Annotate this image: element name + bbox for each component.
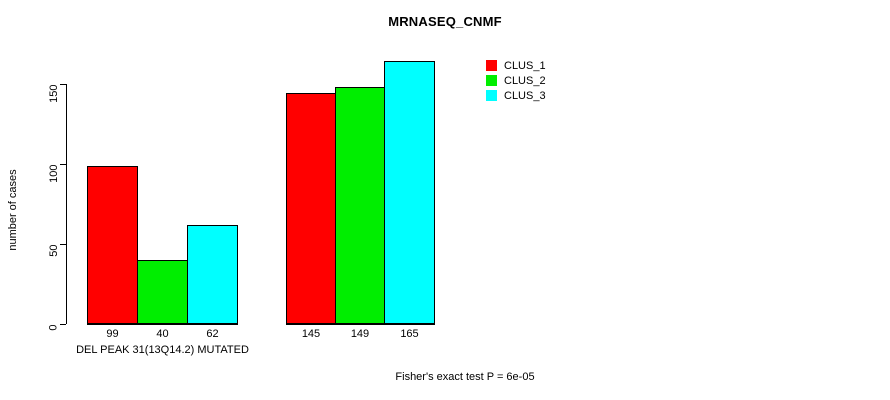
legend-swatch-clus1 <box>486 60 497 71</box>
y-tick-mark-100 <box>60 164 66 165</box>
statistical-test-note: Fisher's exact test P = 6e-05 <box>310 371 620 383</box>
bar-value-label-group1-clus2: 40 <box>137 328 188 340</box>
y-tick-label-50: 50 <box>54 245 55 257</box>
plot-area: 0 50 100 150 number of cases 99 40 62 DE… <box>0 0 890 400</box>
y-tick-mark-50 <box>60 244 66 245</box>
bar-group2-clus3[interactable] <box>384 61 435 324</box>
y-tick-label-100: 100 <box>54 165 55 183</box>
y-axis-title: number of cases <box>7 150 19 270</box>
bar-group1-clus1[interactable] <box>87 166 138 324</box>
y-tick-label-0-wrap: 0 <box>0 324 56 325</box>
legend-label-clus1: CLUS_1 <box>504 60 546 72</box>
legend-label-clus2: CLUS_2 <box>504 75 546 87</box>
group1-caption: DEL PEAK 31(13Q14.2) MUTATED <box>27 344 298 356</box>
bar-value-label-group1-clus1: 99 <box>87 328 138 340</box>
bar-chart-figure: MRNASEQ_CNMF 0 50 100 150 number of case… <box>0 0 890 400</box>
legend: CLUS_1 CLUS_2 CLUS_3 <box>486 58 546 103</box>
bar-value-label-group1-clus3: 62 <box>187 328 238 340</box>
bar-group2-clus2[interactable] <box>335 87 385 324</box>
bar-group1-clus2[interactable] <box>137 260 188 324</box>
y-tick-label-150-wrap: 150 <box>0 84 56 85</box>
y-tick-mark-0 <box>60 324 66 325</box>
y-tick-label-150: 150 <box>54 85 55 103</box>
bar-group1-clus3[interactable] <box>187 225 238 324</box>
legend-swatch-clus3 <box>486 90 497 101</box>
y-axis-line <box>66 84 67 324</box>
legend-label-clus3: CLUS_3 <box>504 90 546 102</box>
legend-item-clus1[interactable]: CLUS_1 <box>486 58 546 73</box>
group1-baseline <box>87 324 238 325</box>
legend-item-clus3[interactable]: CLUS_3 <box>486 88 546 103</box>
legend-item-clus2[interactable]: CLUS_2 <box>486 73 546 88</box>
y-tick-mark-150 <box>60 84 66 85</box>
bar-value-label-group2-clus2: 149 <box>335 328 385 340</box>
bar-value-label-group2-clus1: 145 <box>286 328 336 340</box>
bar-group2-clus1[interactable] <box>286 93 336 324</box>
bar-value-label-group2-clus3: 165 <box>384 328 435 340</box>
y-tick-label-0: 0 <box>54 325 55 331</box>
legend-swatch-clus2 <box>486 75 497 86</box>
group2-baseline <box>286 324 435 325</box>
